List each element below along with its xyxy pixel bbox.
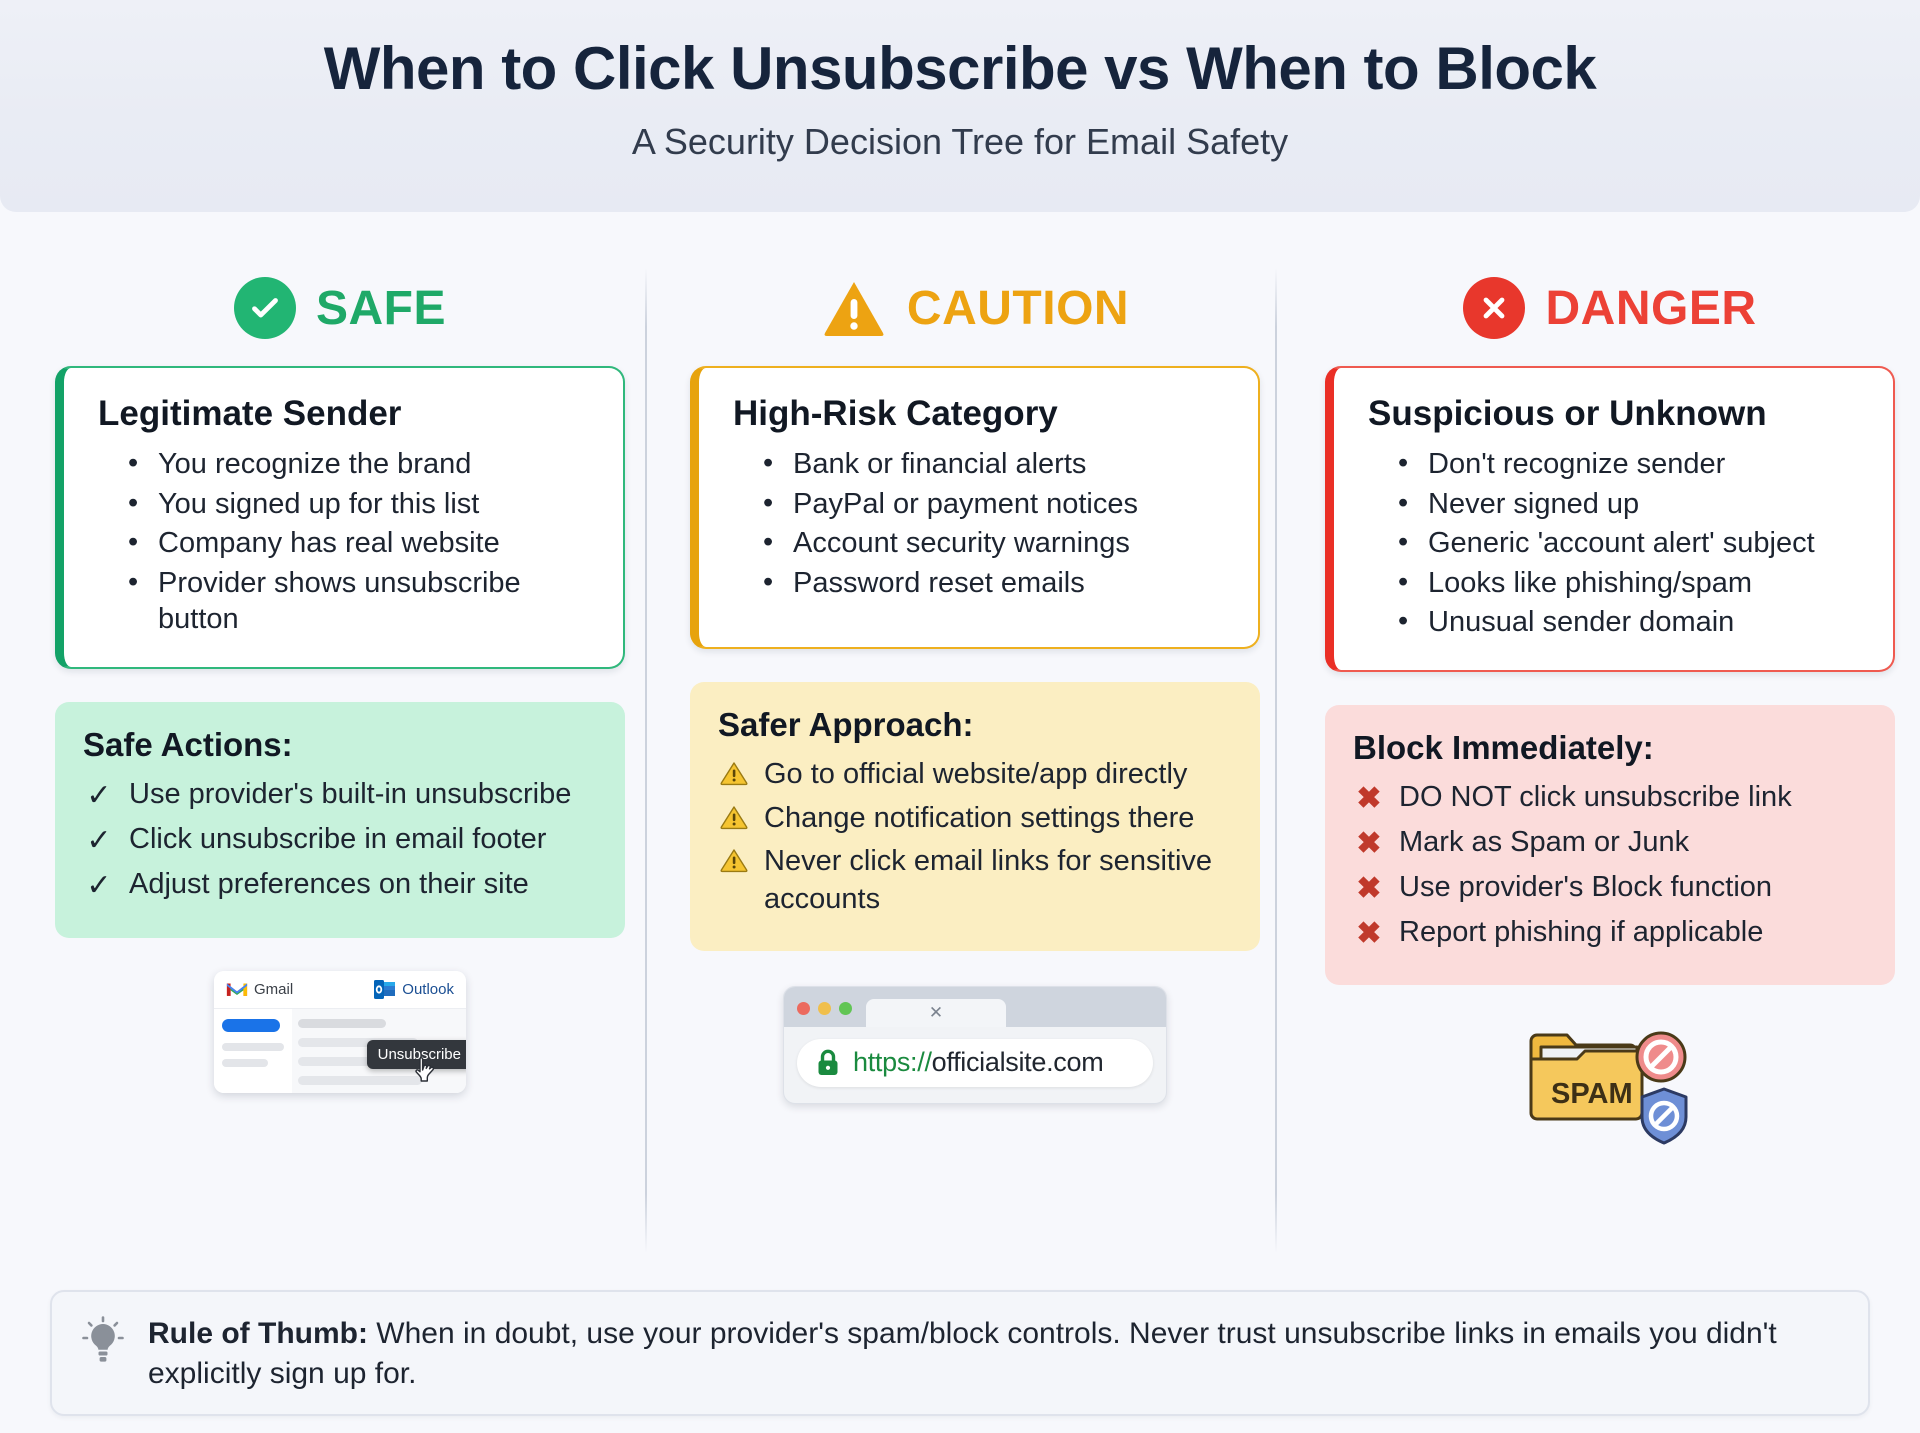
actions-box-caution: Safer Approach: Go to official website/a…	[690, 682, 1260, 951]
padlock-icon	[815, 1048, 841, 1078]
browser-address-bar[interactable]: https://officialsite.com	[797, 1039, 1153, 1087]
hand-cursor-icon	[412, 1056, 438, 1091]
spam-folder-icon: SPAM	[1515, 1011, 1705, 1146]
check-circle-icon	[234, 277, 296, 339]
warning-triangle-icon	[821, 277, 887, 339]
checkmark-icon: ✓	[83, 866, 115, 905]
list-item: ✓ Adjust preferences on their site	[83, 866, 597, 905]
action-text: Never click email links for sensitive ac…	[764, 843, 1232, 918]
column-header-safe: SAFE	[55, 268, 625, 348]
list-item: Password reset emails	[763, 565, 1228, 602]
list-item: Go to official website/app directly	[718, 756, 1232, 794]
browser-mock: ✕ https://officialsite.com	[783, 986, 1167, 1104]
list-item: ✖ Mark as Spam or Junk	[1353, 824, 1867, 863]
checkmark-icon: ✓	[83, 776, 115, 815]
list-item: Account security warnings	[763, 525, 1228, 562]
list-item: Never signed up	[1398, 486, 1863, 523]
list-item: Bank or financial alerts	[763, 446, 1228, 483]
list-item: ✖ Report phishing if applicable	[1353, 914, 1867, 953]
column-divider-left	[645, 268, 647, 1253]
list-item: ✓ Use provider's built-in unsubscribe	[83, 776, 597, 815]
list-item: ✖ Use provider's Block function	[1353, 869, 1867, 908]
email-client-brandbar: Gmail Outlook	[214, 971, 466, 1009]
criteria-card-title-safe: Legitimate Sender	[98, 394, 593, 434]
action-text: Go to official website/app directly	[764, 756, 1187, 794]
rule-of-thumb-banner: Rule of Thumb: When in doubt, use your p…	[50, 1290, 1870, 1416]
cross-mark-icon: ✖	[1353, 914, 1385, 953]
action-text: Use provider's built-in unsubscribe	[129, 776, 571, 814]
list-item: ✖ DO NOT click unsubscribe link	[1353, 779, 1867, 818]
list-item: Company has real website	[128, 525, 593, 562]
column-header-danger: DANGER	[1325, 268, 1895, 348]
cross-mark-icon: ✖	[1353, 869, 1385, 908]
criteria-list-safe: You recognize the brand You signed up fo…	[128, 446, 593, 638]
column-label-caution: CAUTION	[907, 281, 1129, 336]
list-item: Never click email links for sensitive ac…	[718, 843, 1232, 918]
cross-mark-icon: ✖	[1353, 824, 1385, 863]
column-danger: DANGER Suspicious or Unknown Don't recog…	[1325, 268, 1895, 1149]
outlook-label: Outlook	[402, 981, 454, 998]
list-item: Don't recognize sender	[1398, 446, 1863, 483]
column-safe: SAFE Legitimate Sender You recognize the…	[55, 268, 625, 1102]
svg-text:SPAM: SPAM	[1551, 1078, 1633, 1110]
list-item: You signed up for this list	[128, 486, 593, 523]
actions-title-caution: Safer Approach:	[718, 706, 1232, 744]
action-text: DO NOT click unsubscribe link	[1399, 779, 1792, 817]
criteria-card-title-caution: High-Risk Category	[733, 394, 1228, 434]
url-host: officialsite.com	[932, 1047, 1104, 1077]
list-item: Looks like phishing/spam	[1398, 565, 1863, 602]
email-sidebar	[214, 1009, 292, 1093]
criteria-card-title-danger: Suspicious or Unknown	[1368, 394, 1863, 434]
window-controls	[797, 1002, 852, 1027]
criteria-list-caution: Bank or financial alerts PayPal or payme…	[763, 446, 1228, 601]
outlook-icon	[374, 980, 396, 999]
criteria-card-safe: Legitimate Sender You recognize the bran…	[55, 366, 625, 669]
list-item: Generic 'account alert' subject	[1398, 525, 1863, 562]
illustration-browser: ✕ https://officialsite.com	[690, 975, 1260, 1115]
email-client-mock: Gmail Outlook	[214, 971, 466, 1093]
warning-triangle-icon	[718, 800, 750, 830]
gmail-brand: Gmail	[226, 981, 293, 998]
page-title: When to Click Unsubscribe vs When to Blo…	[0, 37, 1920, 100]
column-header-caution: CAUTION	[690, 268, 1260, 348]
gmail-label: Gmail	[254, 981, 293, 998]
list-item: Change notification settings there	[718, 800, 1232, 838]
warning-triangle-icon	[718, 843, 750, 873]
email-row-line	[298, 1019, 386, 1028]
url-text: https://officialsite.com	[853, 1047, 1103, 1078]
compose-button	[222, 1019, 280, 1032]
action-text: Mark as Spam or Junk	[1399, 824, 1689, 862]
minimize-window-dot[interactable]	[818, 1002, 831, 1015]
cross-mark-icon: ✖	[1353, 779, 1385, 818]
criteria-card-danger: Suspicious or Unknown Don't recognize se…	[1325, 366, 1895, 672]
list-item: Unusual sender domain	[1398, 604, 1863, 641]
illustration-email-client: Gmail Outlook	[55, 962, 625, 1102]
warning-triangle-icon	[718, 756, 750, 786]
column-label-safe: SAFE	[316, 281, 446, 336]
column-divider-right	[1275, 268, 1277, 1253]
maximize-window-dot[interactable]	[839, 1002, 852, 1015]
gmail-icon	[226, 981, 248, 998]
illustration-spam-folder: SPAM	[1325, 1009, 1895, 1149]
list-item: PayPal or payment notices	[763, 486, 1228, 523]
rule-of-thumb-label: Rule of Thumb:	[148, 1317, 368, 1350]
list-item: Provider shows unsubscribe button	[128, 565, 593, 638]
page-subtitle: A Security Decision Tree for Email Safet…	[0, 122, 1920, 162]
column-label-danger: DANGER	[1545, 281, 1756, 336]
lightbulb-icon	[80, 1314, 126, 1375]
close-window-dot[interactable]	[797, 1002, 810, 1015]
criteria-list-danger: Don't recognize sender Never signed up G…	[1398, 446, 1863, 641]
email-row-line	[298, 1076, 422, 1085]
action-text: Change notification settings there	[764, 800, 1194, 838]
url-scheme: https://	[853, 1047, 932, 1077]
close-icon[interactable]: ✕	[929, 1003, 943, 1023]
column-caution: CAUTION High-Risk Category Bank or finan…	[690, 268, 1260, 1115]
actions-title-safe: Safe Actions:	[83, 726, 597, 764]
checkmark-icon: ✓	[83, 821, 115, 860]
rule-of-thumb-body: When in doubt, use your provider's spam/…	[148, 1317, 1777, 1390]
sidebar-line	[222, 1043, 284, 1051]
sidebar-line	[222, 1059, 268, 1067]
actions-box-safe: Safe Actions: ✓ Use provider's built-in …	[55, 702, 625, 938]
browser-tab[interactable]: ✕	[866, 999, 1006, 1027]
actions-box-danger: Block Immediately: ✖ DO NOT click unsubs…	[1325, 705, 1895, 985]
list-item: You recognize the brand	[128, 446, 593, 483]
action-text: Adjust preferences on their site	[129, 866, 529, 904]
list-item: ✓ Click unsubscribe in email footer	[83, 821, 597, 860]
action-text: Use provider's Block function	[1399, 869, 1772, 907]
x-circle-icon	[1463, 277, 1525, 339]
actions-title-danger: Block Immediately:	[1353, 729, 1867, 767]
page-header: When to Click Unsubscribe vs When to Blo…	[0, 0, 1920, 212]
criteria-card-caution: High-Risk Category Bank or financial ale…	[690, 366, 1260, 649]
rule-of-thumb-text: Rule of Thumb: When in doubt, use your p…	[148, 1314, 1838, 1394]
outlook-brand: Outlook	[374, 980, 454, 999]
action-text: Report phishing if applicable	[1399, 914, 1763, 952]
browser-chrome: ✕	[784, 987, 1166, 1027]
action-text: Click unsubscribe in email footer	[129, 821, 546, 859]
